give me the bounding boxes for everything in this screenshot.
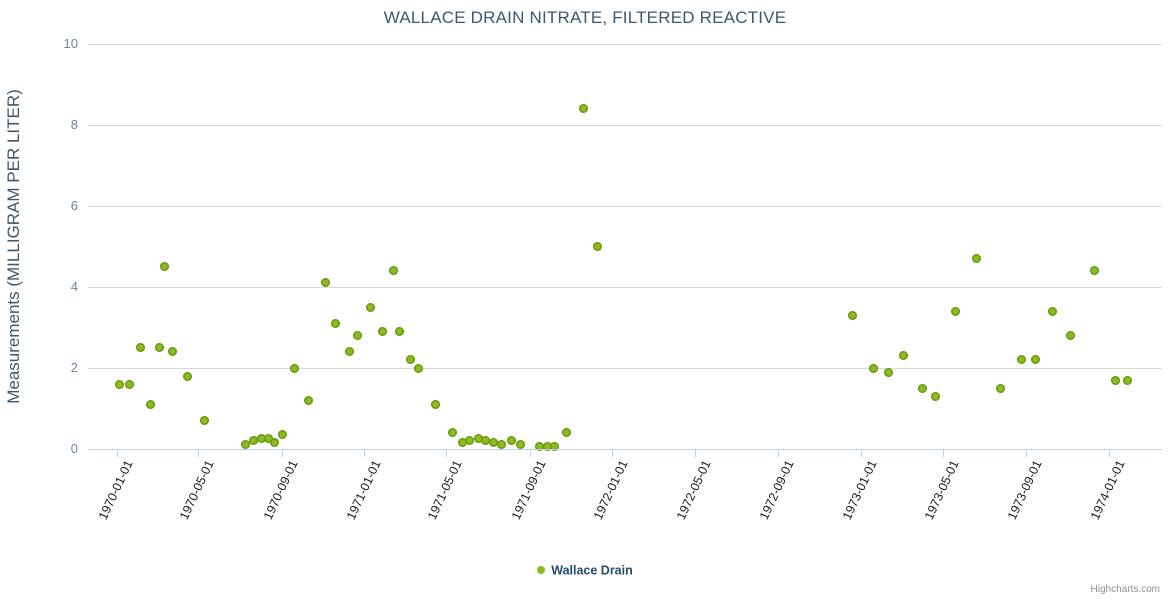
data-point[interactable] [146, 400, 155, 409]
x-tick-label: 1974-01-01 [1088, 458, 1128, 522]
y-tick-label: 2 [18, 361, 78, 374]
data-point[interactable] [353, 331, 362, 340]
x-tick-label: 1971-01-01 [343, 458, 383, 522]
data-point[interactable] [931, 392, 940, 401]
data-point[interactable] [378, 327, 387, 336]
data-point[interactable] [996, 384, 1005, 393]
x-tick-mark [282, 450, 283, 457]
data-point[interactable] [395, 327, 404, 336]
data-point[interactable] [1111, 376, 1120, 385]
data-point[interactable] [884, 368, 893, 377]
data-point[interactable] [183, 372, 192, 381]
gridline [88, 287, 1162, 288]
data-point[interactable] [160, 262, 169, 271]
x-tick-label: 1970-09-01 [261, 458, 301, 522]
data-point[interactable] [115, 380, 124, 389]
data-point[interactable] [869, 364, 878, 373]
y-axis-title: Measurements (MILLIGRAM PER LITER) [4, 44, 26, 449]
data-point[interactable] [366, 303, 375, 312]
y-tick-label: 6 [18, 199, 78, 212]
data-point[interactable] [1031, 355, 1040, 364]
data-point[interactable] [345, 347, 354, 356]
chart-container: WALLACE DRAIN NITRATE, FILTERED REACTIVE… [0, 0, 1170, 600]
x-tick-label: 1973-09-01 [1005, 458, 1045, 522]
x-tick-mark [364, 450, 365, 457]
data-point[interactable] [1123, 376, 1132, 385]
x-tick-mark [861, 450, 862, 457]
x-tick-mark [117, 450, 118, 457]
data-point[interactable] [1090, 266, 1099, 275]
data-point[interactable] [1017, 355, 1026, 364]
data-point[interactable] [1066, 331, 1075, 340]
data-point[interactable] [125, 380, 134, 389]
x-tick-mark [1109, 450, 1110, 457]
x-tick-mark [1026, 450, 1027, 457]
y-tick-label: 0 [18, 442, 78, 455]
data-point[interactable] [507, 436, 516, 445]
data-point[interactable] [136, 343, 145, 352]
highcharts-credits[interactable]: Highcharts.com [1091, 584, 1160, 595]
data-point[interactable] [972, 254, 981, 263]
gridline [88, 44, 1162, 45]
x-tick-mark [778, 450, 779, 457]
data-point[interactable] [270, 438, 279, 447]
x-tick-mark [446, 450, 447, 457]
data-point[interactable] [200, 416, 209, 425]
x-tick-label: 1972-05-01 [674, 458, 714, 522]
x-tick-label: 1973-05-01 [922, 458, 962, 522]
legend-marker-icon [537, 566, 545, 574]
data-point[interactable] [406, 355, 415, 364]
chart-legend[interactable]: Wallace Drain [0, 563, 1170, 578]
x-tick-mark [530, 450, 531, 457]
x-tick-label: 1970-01-01 [96, 458, 136, 522]
data-point[interactable] [848, 311, 857, 320]
data-point[interactable] [899, 351, 908, 360]
data-point[interactable] [448, 428, 457, 437]
gridline [88, 125, 1162, 126]
chart-title: WALLACE DRAIN NITRATE, FILTERED REACTIVE [0, 8, 1170, 28]
data-point[interactable] [155, 343, 164, 352]
data-point[interactable] [168, 347, 177, 356]
data-point[interactable] [304, 396, 313, 405]
x-tick-label: 1973-01-01 [840, 458, 880, 522]
data-point[interactable] [918, 384, 927, 393]
data-point[interactable] [331, 319, 340, 328]
y-tick-label: 4 [18, 280, 78, 293]
x-tick-label: 1972-09-01 [757, 458, 797, 522]
data-point[interactable] [579, 104, 588, 113]
data-point[interactable] [951, 307, 960, 316]
x-tick-label: 1971-05-01 [425, 458, 465, 522]
data-point[interactable] [414, 364, 423, 373]
x-axis-line [88, 449, 1162, 450]
data-point[interactable] [1048, 307, 1057, 316]
y-tick-label: 10 [18, 37, 78, 50]
y-tick-label: 8 [18, 118, 78, 131]
data-point[interactable] [535, 442, 544, 451]
x-tick-label: 1970-05-01 [177, 458, 217, 522]
data-point[interactable] [290, 364, 299, 373]
data-point[interactable] [550, 442, 559, 451]
data-point[interactable] [465, 436, 474, 445]
gridline [88, 368, 1162, 369]
data-point[interactable] [278, 430, 287, 439]
x-tick-label: 1971-09-01 [509, 458, 549, 522]
x-tick-label: 1972-01-01 [591, 458, 631, 522]
x-tick-mark [612, 450, 613, 457]
plot-area [88, 44, 1162, 449]
data-point[interactable] [593, 242, 602, 251]
data-point[interactable] [562, 428, 571, 437]
legend-item-label[interactable]: Wallace Drain [551, 564, 633, 578]
gridline [88, 206, 1162, 207]
data-point[interactable] [431, 400, 440, 409]
x-tick-mark [198, 450, 199, 457]
data-point[interactable] [389, 266, 398, 275]
x-tick-mark [695, 450, 696, 457]
x-tick-mark [943, 450, 944, 457]
